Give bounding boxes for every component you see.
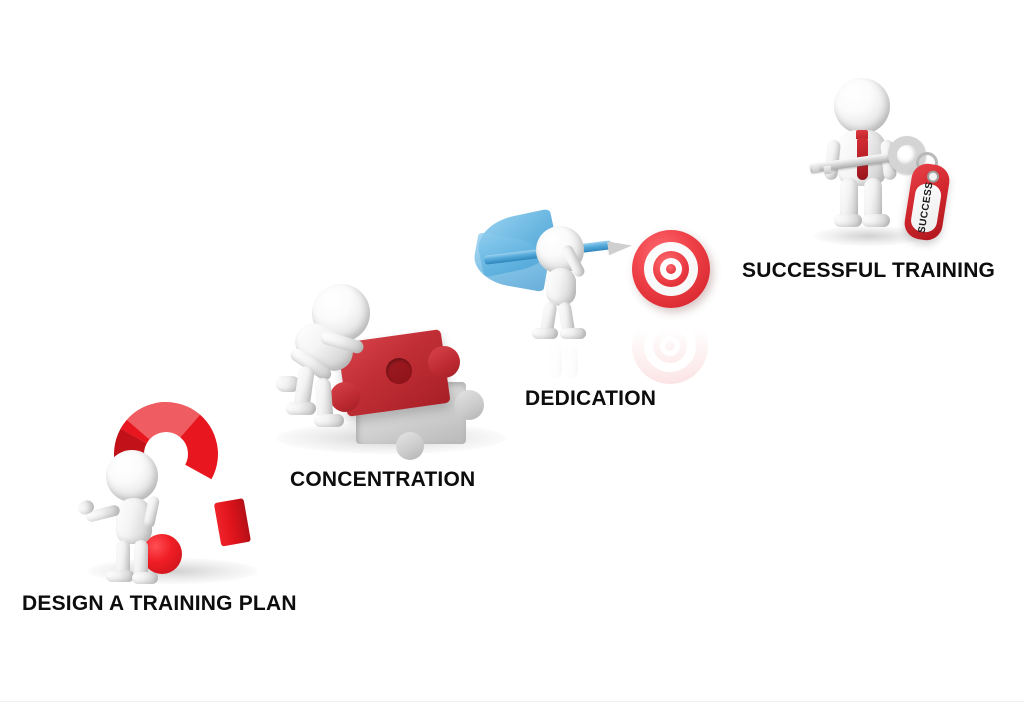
key-success-figure-icon: SUCCESS: [800, 78, 980, 248]
manikin-head: [106, 450, 158, 502]
manikin-arm-right: [143, 495, 160, 529]
slide-canvas: DESIGN A TRAINING PLAN: [0, 0, 1024, 715]
bottom-divider: [0, 701, 1024, 702]
manikin-figure: [526, 218, 616, 348]
figure-reflection-leg-b: [564, 346, 578, 378]
manikin-foot-front: [314, 414, 344, 427]
manikin-foot-left: [106, 570, 134, 582]
target-reflection-ring-white-2: [660, 336, 680, 356]
target-reflection: [632, 308, 708, 384]
dart-target-figure-icon: [472, 196, 722, 366]
manikin-figure: [78, 398, 218, 598]
step-label-successful-training: SUCCESSFUL TRAINING: [742, 259, 995, 283]
target-reflection-ring-red-1: [653, 329, 687, 363]
step-label-dedication: DEDICATION: [525, 387, 656, 411]
target-reflection-bullseye: [665, 341, 675, 351]
target-bullseye: [666, 264, 676, 274]
target-reflection-ring-white-1: [644, 320, 696, 372]
figure-reflection-leg-a: [548, 344, 562, 378]
puzzle-piece-knob-right: [428, 346, 460, 378]
manikin-figure: [268, 284, 398, 454]
step-label-concentration: CONCENTRATION: [290, 468, 475, 492]
puzzle-slot-knob-bottom: [396, 432, 424, 460]
manikin-foot-back: [532, 328, 558, 339]
manikin-foot-back: [286, 402, 316, 415]
key-tooth-1: [811, 164, 819, 174]
success-tag-text: SUCCESS: [917, 181, 936, 234]
target-reflection-ring-outer: [632, 308, 708, 384]
manikin-torso: [546, 268, 576, 306]
manikin-foot-right: [132, 572, 158, 584]
manikin-foot-right: [862, 214, 890, 227]
puzzle-slot-knob-right: [454, 390, 484, 420]
success-tag-face: SUCCESS: [909, 182, 942, 233]
step-label-design-a-training-plan: DESIGN A TRAINING PLAN: [22, 592, 297, 616]
manikin-foot-left: [834, 214, 862, 227]
step-dedication[interactable]: [472, 196, 722, 366]
manikin-foot-front: [560, 328, 586, 339]
step-successful-training[interactable]: SUCCESS: [800, 78, 980, 248]
key-tooth-2: [823, 166, 831, 175]
manikin-head: [834, 78, 890, 134]
